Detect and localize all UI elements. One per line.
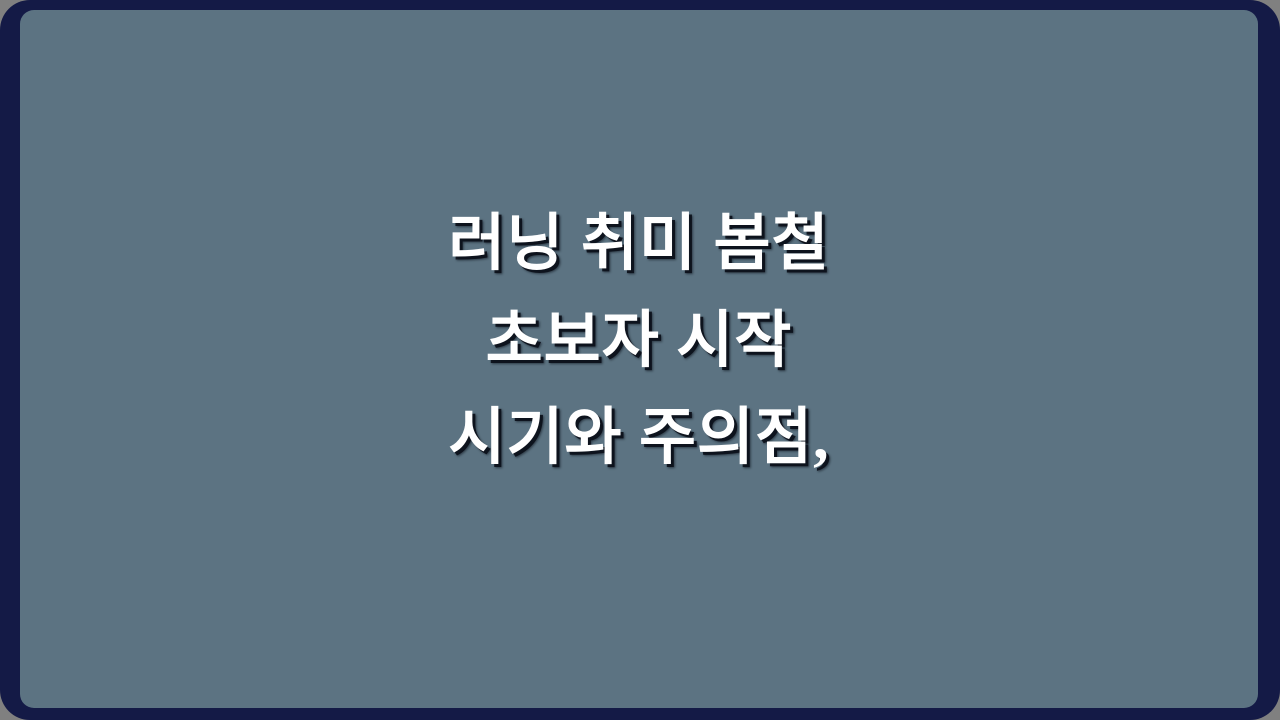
title-line-3: 시기와 주의점, [60,390,1218,487]
slide-stage: 러닝 취미 봄철 초보자 시작 시기와 주의점, [0,0,1280,720]
title-text-block: 러닝 취미 봄철 초보자 시작 시기와 주의점, [20,196,1258,487]
slide-content-panel: 러닝 취미 봄철 초보자 시작 시기와 주의점, [20,10,1258,708]
slide-frame-border: 러닝 취미 봄철 초보자 시작 시기와 주의점, [0,0,1280,720]
title-line-2: 초보자 시작 [60,293,1218,390]
title-line-1: 러닝 취미 봄철 [60,196,1218,293]
